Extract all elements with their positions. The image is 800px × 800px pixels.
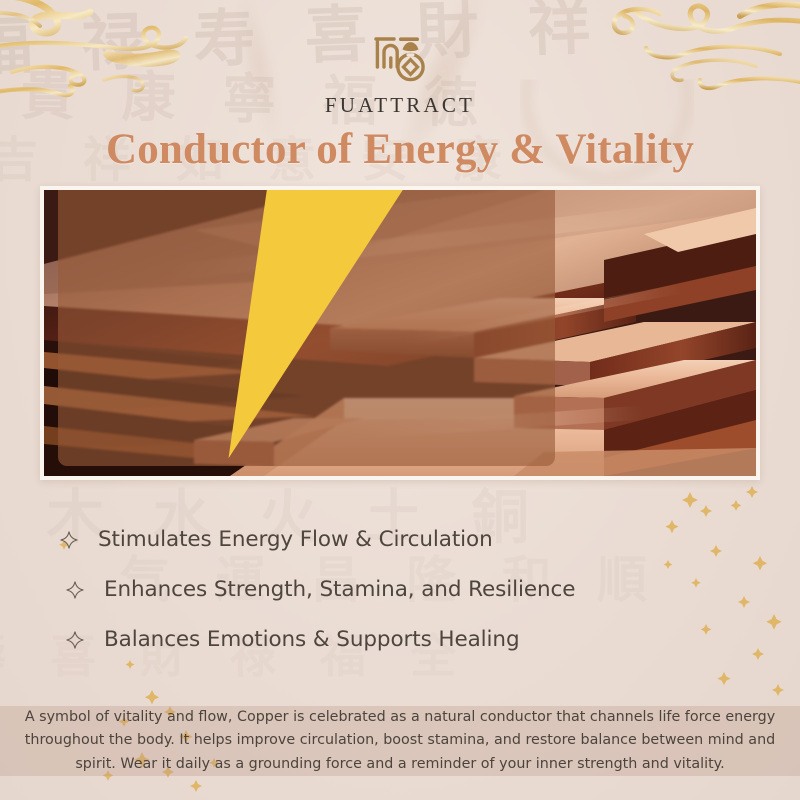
four-point-star-icon — [66, 581, 84, 599]
fuattract-logo-icon — [372, 34, 428, 86]
list-item: Balances Emotions & Supports Healing — [58, 616, 738, 664]
four-point-star-icon — [66, 631, 84, 649]
benefits-list: Stimulates Energy Flow & Circulation Enh… — [58, 516, 738, 664]
four-point-star-icon — [60, 531, 78, 549]
lightning-bolt-icon — [76, 190, 529, 458]
poster-canvas: 福 禄 寿 喜 財 祥 富 貴 康 寧 福 徳 吉 祥 如 意 安 康 金 木 … — [0, 0, 800, 800]
list-item: Enhances Strength, Stamina, and Resilien… — [58, 566, 738, 614]
list-item-label: Stimulates Energy Flow & Circulation — [98, 528, 493, 552]
copper-badge: COPPER — [58, 190, 555, 466]
footer-description: A symbol of vitality and flow, Copper is… — [15, 706, 785, 775]
copper-bars-photo: COPPER — [44, 190, 756, 476]
list-item: Stimulates Energy Flow & Circulation — [58, 516, 738, 564]
page-title: Conductor of Energy & Vitality — [0, 125, 800, 174]
brand-name: FUATTRACT — [325, 93, 475, 118]
brand-header: FUATTRACT — [0, 34, 800, 118]
list-item-label: Balances Emotions & Supports Healing — [104, 628, 520, 652]
hero-image-frame: COPPER — [40, 186, 760, 480]
footer-band: A symbol of vitality and flow, Copper is… — [0, 706, 800, 776]
list-item-label: Enhances Strength, Stamina, and Resilien… — [104, 578, 575, 602]
